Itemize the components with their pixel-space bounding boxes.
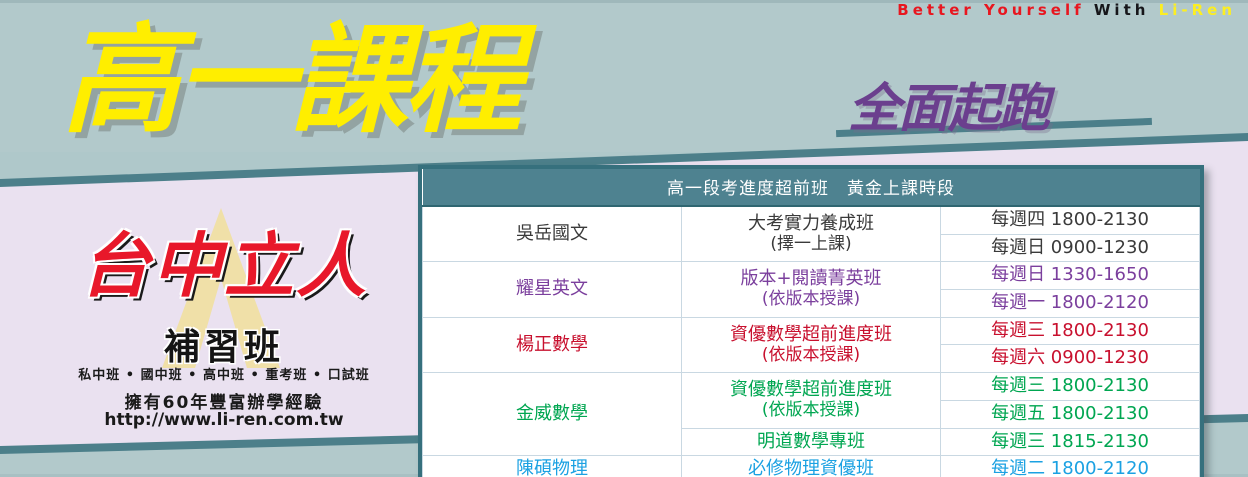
schedule-table-container: 高一段考進度超前班 黃金上課時段 吳岳國文 大考實力養成班 (擇一上課) 每週四…	[418, 165, 1204, 477]
page-title: 高一課程	[62, 18, 518, 142]
table-row[interactable]: 吳岳國文 大考實力養成班 (擇一上課) 每週四 1800-2130	[423, 206, 1200, 234]
course-name: 大考實力養成班 (擇一上課)	[682, 206, 941, 262]
course-title: 版本+閱讀菁英班	[740, 268, 881, 289]
teacher-name: 陳碩物理	[423, 456, 682, 477]
table-header-title: 高一段考進度超前班 黃金上課時段	[423, 169, 1200, 206]
teacher-name: 楊正數學	[423, 317, 682, 372]
schedule-table: 高一段考進度超前班 黃金上課時段 吳岳國文 大考實力養成班 (擇一上課) 每週四…	[422, 169, 1200, 477]
course-title: 資優數學超前進度班	[730, 324, 892, 345]
teacher-name: 耀星英文	[423, 262, 682, 317]
course-note: (依版本授課)	[686, 346, 936, 366]
promotional-banner: Better Yourself With Li-Ren 高一課程 全面起跑 台中…	[0, 0, 1248, 477]
school-logo: 台中立人 補習班 私中班 • 國中班 • 高中班 • 重考班 • 口試班 擁有6…	[40, 198, 400, 423]
course-name: 版本+閱讀菁英班 (依版本授課)	[682, 262, 941, 317]
class-time: 每週日 1330-1650	[941, 262, 1200, 290]
class-time: 每週一 1800-2120	[941, 290, 1200, 318]
course-name: 明道數學專班	[682, 428, 941, 456]
class-time: 每週日 0900-1230	[941, 234, 1200, 262]
course-name: 資優數學超前進度班 (依版本授課)	[682, 373, 941, 428]
tagline-part-3: Li-Ren	[1159, 1, 1236, 19]
course-name: 必修物理資優班	[682, 456, 941, 477]
course-name: 資優數學超前進度班 (依版本授課)	[682, 317, 941, 372]
table-row[interactable]: 陳碩物理 必修物理資優班 每週二 1800-2120	[423, 456, 1200, 477]
logo-website-url[interactable]: http://www.li-ren.com.tw	[48, 410, 400, 430]
table-header-row: 高一段考進度超前班 黃金上課時段	[423, 169, 1200, 206]
teacher-name: 金威數學	[423, 373, 682, 456]
schedule-table-body: 吳岳國文 大考實力養成班 (擇一上課) 每週四 1800-2130 每週日 09…	[423, 206, 1200, 477]
course-note: (依版本授課)	[686, 290, 936, 310]
tagline-part-1: Better Yourself	[897, 1, 1084, 19]
class-time: 每週四 1800-2130	[941, 206, 1200, 234]
class-time: 每週三 1800-2130	[941, 373, 1200, 401]
course-title: 大考實力養成班	[748, 213, 874, 234]
logo-program-list: 私中班 • 國中班 • 高中班 • 重考班 • 口試班	[48, 364, 400, 383]
course-title: 資優數學超前進度班	[730, 379, 892, 400]
course-note: (依版本授課)	[686, 401, 936, 421]
logo-school-type: 補習班	[48, 318, 400, 370]
table-row[interactable]: 楊正數學 資優數學超前進度班 (依版本授課) 每週三 1800-2130	[423, 317, 1200, 345]
logo-school-name: 台中立人	[48, 210, 400, 311]
tagline-part-2: With	[1094, 1, 1150, 19]
class-time: 每週三 1815-2130	[941, 428, 1200, 456]
table-row[interactable]: 耀星英文 版本+閱讀菁英班 (依版本授課) 每週日 1330-1650	[423, 262, 1200, 290]
class-time: 每週六 0900-1230	[941, 345, 1200, 373]
class-time: 每週三 1800-2130	[941, 317, 1200, 345]
teacher-name: 吳岳國文	[423, 206, 682, 262]
table-row[interactable]: 金威數學 資優數學超前進度班 (依版本授課) 每週三 1800-2130	[423, 373, 1200, 401]
course-note: (擇一上課)	[686, 235, 936, 255]
class-time: 每週二 1800-2120	[941, 456, 1200, 477]
page-subtitle: 全面起跑	[848, 66, 1048, 141]
class-time: 每週五 1800-2130	[941, 400, 1200, 428]
